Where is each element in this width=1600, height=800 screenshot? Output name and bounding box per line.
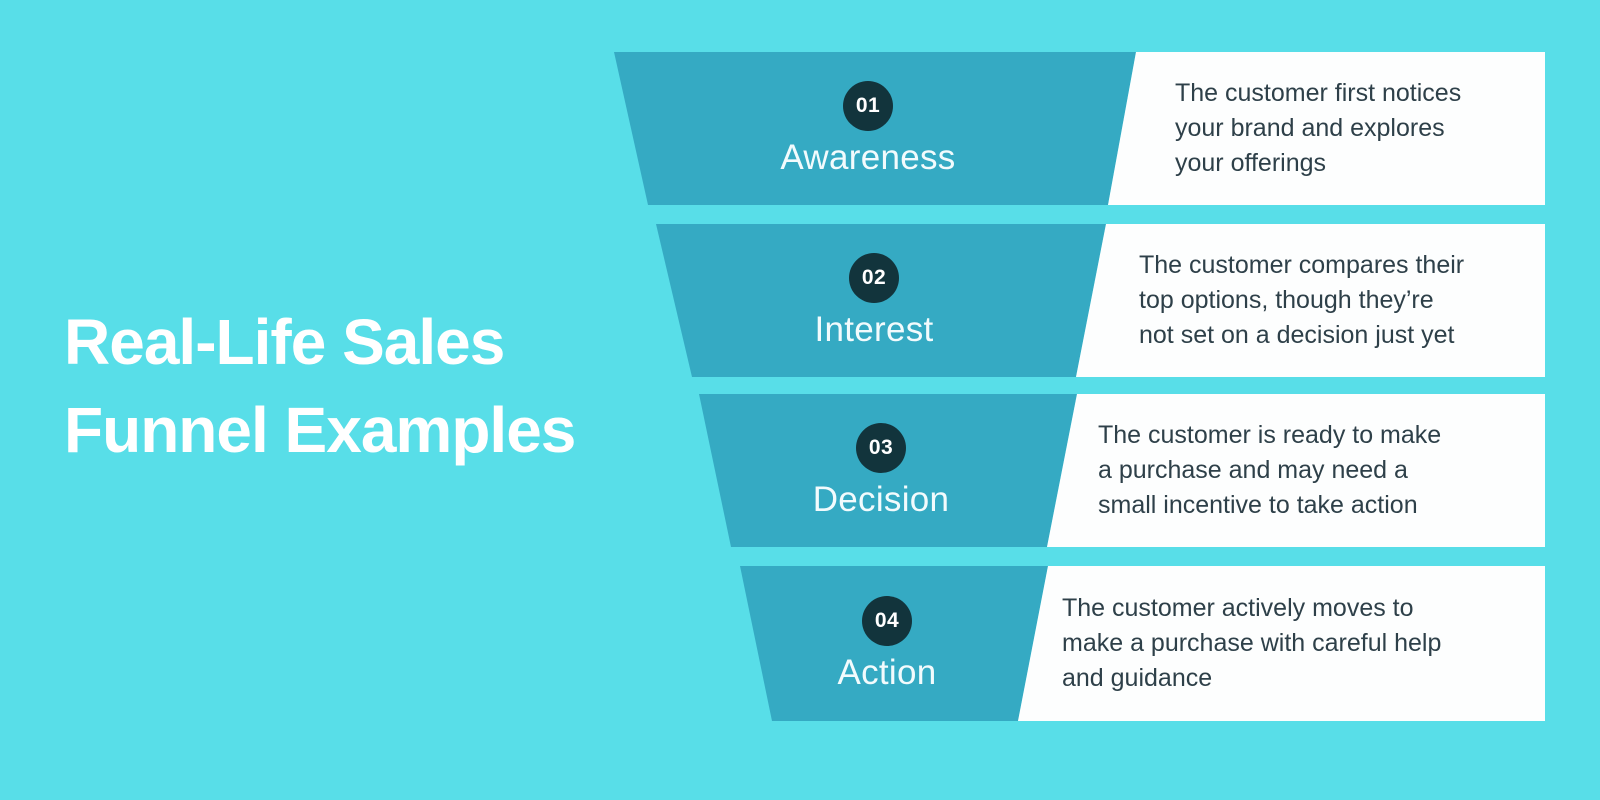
sales-funnel: 01 Awareness The customer first notices … <box>0 0 1600 800</box>
funnel-stage-2[interactable]: 02 Interest The customer compares their … <box>0 224 1600 377</box>
stage-1-shape <box>0 52 1600 205</box>
funnel-stage-1[interactable]: 01 Awareness The customer first notices … <box>0 52 1600 205</box>
funnel-infographic: Real-Life Sales Funnel Examples 01 Aware… <box>0 0 1600 800</box>
stage-3-shape <box>0 394 1600 547</box>
funnel-stage-4[interactable]: 04 Action The customer actively moves to… <box>0 566 1600 721</box>
stage-4-shape <box>0 566 1600 721</box>
stage-2-shape <box>0 224 1600 377</box>
funnel-stage-3[interactable]: 03 Decision The customer is ready to mak… <box>0 394 1600 547</box>
